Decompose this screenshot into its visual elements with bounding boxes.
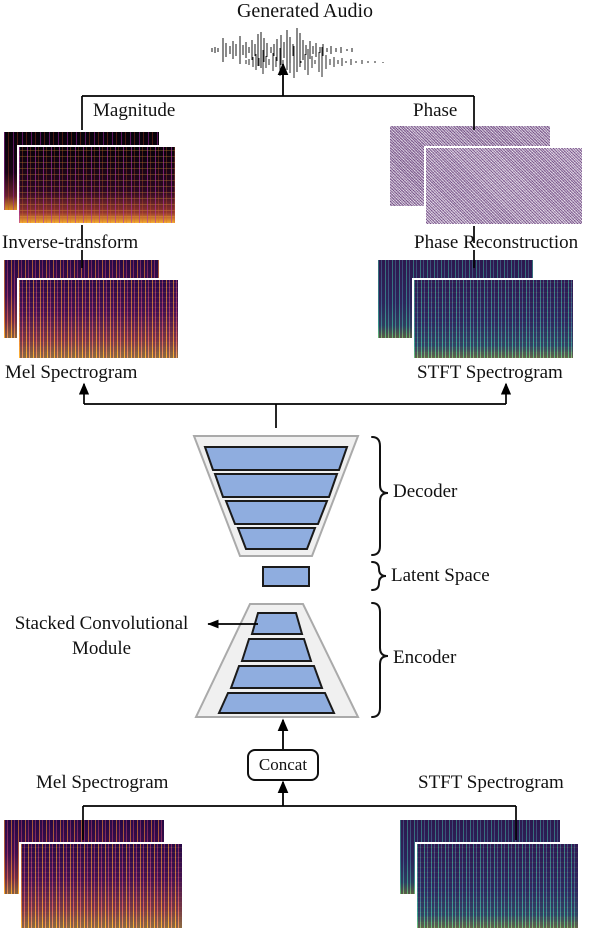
encoder-block	[196, 604, 358, 717]
label-inverse-transform: Inverse-transform	[2, 232, 138, 254]
label-latent-space: Latent Space	[391, 565, 490, 587]
label-concat: Concat	[248, 755, 318, 775]
label-mel-spectrogram-top: Mel Spectrogram	[5, 362, 137, 384]
label-stacked-convolutional-module-line1: Stacked Convolutional	[0, 613, 203, 635]
audio-waveform-icon	[212, 28, 383, 78]
latent-space-block	[263, 567, 309, 586]
decoder-layer-3	[226, 501, 327, 524]
label-decoder: Decoder	[393, 481, 457, 503]
encoder-layer-1	[252, 613, 302, 634]
latent-space-brace-icon	[372, 562, 386, 590]
label-phase-reconstruction: Phase Reconstruction	[414, 232, 578, 254]
decoder-layer-2	[215, 474, 337, 497]
label-mel-spectrogram-bottom: Mel Spectrogram	[36, 772, 168, 794]
label-stft-spectrogram-bottom: STFT Spectrogram	[418, 772, 564, 794]
label-encoder: Encoder	[393, 647, 456, 669]
label-phase: Phase	[413, 100, 457, 122]
decoder-brace-icon	[372, 437, 388, 555]
label-stacked-convolutional-module-line2: Module	[0, 638, 203, 660]
diagram-canvas: Generated Audio Magnitude Phase Inverse-…	[0, 0, 610, 932]
decoder-layer-1	[205, 447, 347, 470]
label-stft-spectrogram-top: STFT Spectrogram	[417, 362, 563, 384]
page-title-generated-audio: Generated Audio	[0, 0, 610, 23]
decoder-block	[194, 436, 358, 556]
encoder-layer-2	[242, 639, 311, 661]
encoder-layer-4	[219, 693, 334, 713]
encoder-layer-3	[231, 666, 322, 688]
label-magnitude: Magnitude	[93, 100, 175, 122]
decoder-layer-4	[238, 528, 315, 549]
encoder-brace-icon	[372, 603, 388, 717]
